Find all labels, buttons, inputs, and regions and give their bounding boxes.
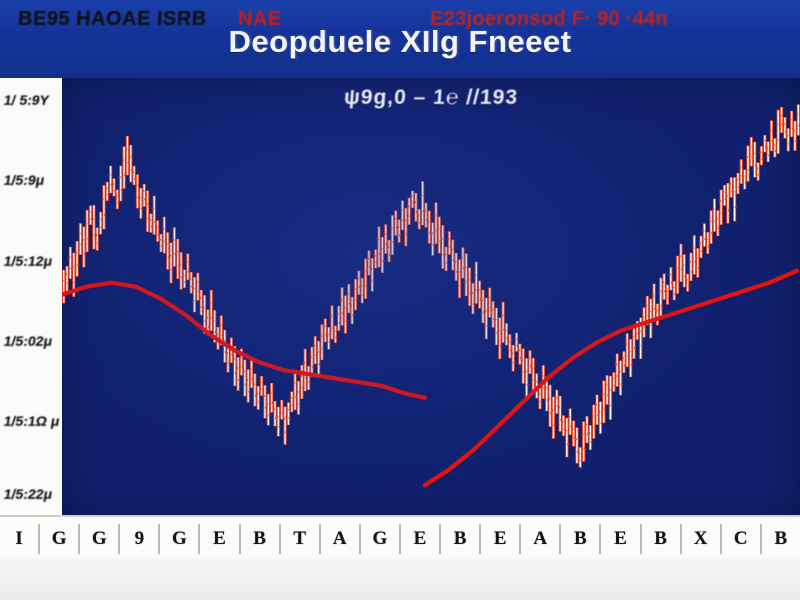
y-axis-tick: 1/5:12μ (3, 253, 64, 269)
x-axis-tick: G (40, 524, 80, 554)
x-axis-tick: G (80, 524, 120, 554)
x-axis-tick-label: B (774, 528, 787, 550)
x-axis-tick-label: B (654, 528, 667, 550)
y-axis-tick: 1/ 5:9Y (3, 92, 64, 108)
x-axis-tick-label: G (172, 528, 187, 550)
chart-window: Deopduele XIlg Fneeet 1/ 5:9Y 1/5:9μ 1/5… (0, 0, 800, 600)
x-axis-tick: 9 (120, 524, 160, 554)
x-axis-tick-label: E (213, 528, 226, 550)
x-axis-tick-label: X (694, 528, 708, 550)
footer-status-text: E23joeronsod F· 90 ·44n (430, 8, 669, 31)
x-axis-tick-label: G (52, 528, 67, 550)
x-axis-tick: E (601, 524, 641, 554)
x-axis-tick: X (682, 524, 722, 554)
x-axis-tick-label: A (333, 528, 347, 550)
x-axis-tick: A (321, 524, 361, 554)
x-axis-tick-label: 9 (135, 528, 145, 550)
x-axis-tick: T (281, 524, 321, 554)
x-axis-tick-label: B (574, 528, 587, 550)
x-axis-tick-label: A (533, 528, 547, 550)
x-axis-tick: B (241, 524, 281, 554)
x-axis-tick: I (0, 524, 40, 554)
x-axis: IGG9GEBTAGEBEABEBXCB (0, 515, 800, 561)
chart-subtitle: ψ9g,0 – 1℮ //193 (61, 86, 800, 110)
x-axis-tick-label: G (373, 528, 388, 550)
x-axis-tick: E (200, 524, 240, 554)
x-axis-tick-label: E (614, 528, 627, 550)
y-axis-tick: 1/5:9μ (3, 172, 64, 188)
x-axis-tick: E (481, 524, 521, 554)
y-axis-tick: 1/5:1Ω μ (3, 413, 64, 429)
x-axis-tick: B (441, 524, 481, 554)
x-axis-tick: A (521, 524, 561, 554)
x-axis-tick: B (642, 524, 682, 554)
x-axis-tick-label: B (454, 528, 467, 550)
footer-caption: BE95 HAOAE ISRB (17, 8, 207, 31)
y-axis-tick: 1/5:22μ (3, 486, 64, 502)
footer-legend-label: NAE (238, 8, 282, 31)
x-axis-tick: E (401, 524, 441, 554)
x-axis-tick-label: T (293, 528, 306, 550)
plot-area[interactable] (62, 78, 800, 515)
x-axis-tick: C (722, 524, 762, 554)
x-axis-tick-label: I (15, 528, 22, 550)
footer-bar (0, 559, 800, 600)
x-axis-tick-label: E (494, 528, 507, 550)
x-axis-tick-label: E (414, 528, 427, 550)
plot-vignette (62, 78, 800, 515)
x-axis-tick-label: G (92, 528, 107, 550)
x-axis-tick-label: C (734, 528, 748, 550)
x-axis-tick: G (160, 524, 200, 554)
x-axis-tick-label: B (253, 528, 266, 550)
x-axis-tick: B (762, 524, 800, 554)
y-axis-tick: 1/5:02μ (3, 333, 64, 349)
x-axis-tick: B (561, 524, 601, 554)
y-axis: 1/ 5:9Y 1/5:9μ 1/5:12μ 1/5:02μ 1/5:1Ω μ … (0, 78, 62, 515)
x-axis-tick: G (361, 524, 401, 554)
